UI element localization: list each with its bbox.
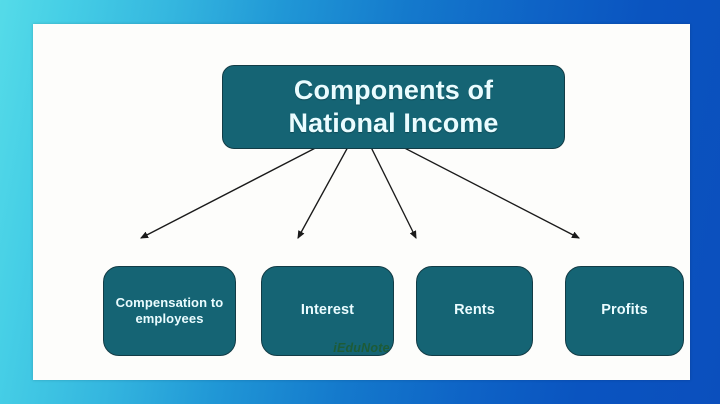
leaf-1-label: Interest <box>301 302 354 320</box>
leaf-0-text: Compensation to employees <box>111 295 228 327</box>
leaf-0-line-1: Compensation <box>116 295 207 310</box>
leaf-2-label: Rents <box>454 302 495 320</box>
title-line-2: National Income <box>288 107 498 140</box>
title-line-1: Components of <box>288 74 498 107</box>
image-frame: Components of National Income Compensati… <box>0 0 720 404</box>
title-node-text: Components of National Income <box>288 74 498 140</box>
watermark-iedunote: iEduNote <box>33 341 690 355</box>
node-components-of-national-income[interactable]: Components of National Income <box>222 65 565 149</box>
leaf-3-label: Profits <box>601 302 648 320</box>
diagram-canvas: Components of National Income Compensati… <box>33 24 690 380</box>
